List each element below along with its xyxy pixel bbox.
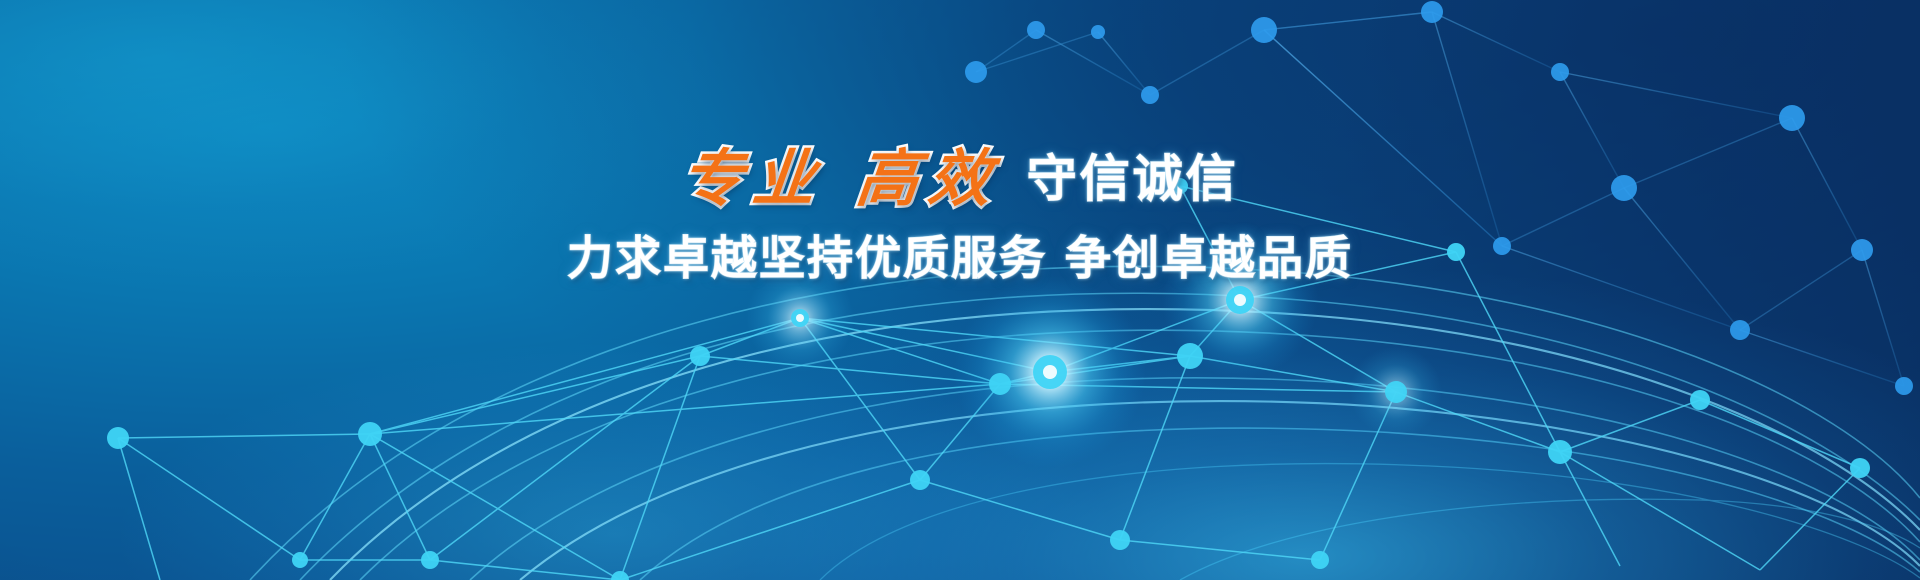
- hero-banner: 专业 高效守信诚信 力求卓越坚持优质服务 争创卓越品质: [0, 0, 1920, 580]
- background-vignette: [0, 0, 1920, 580]
